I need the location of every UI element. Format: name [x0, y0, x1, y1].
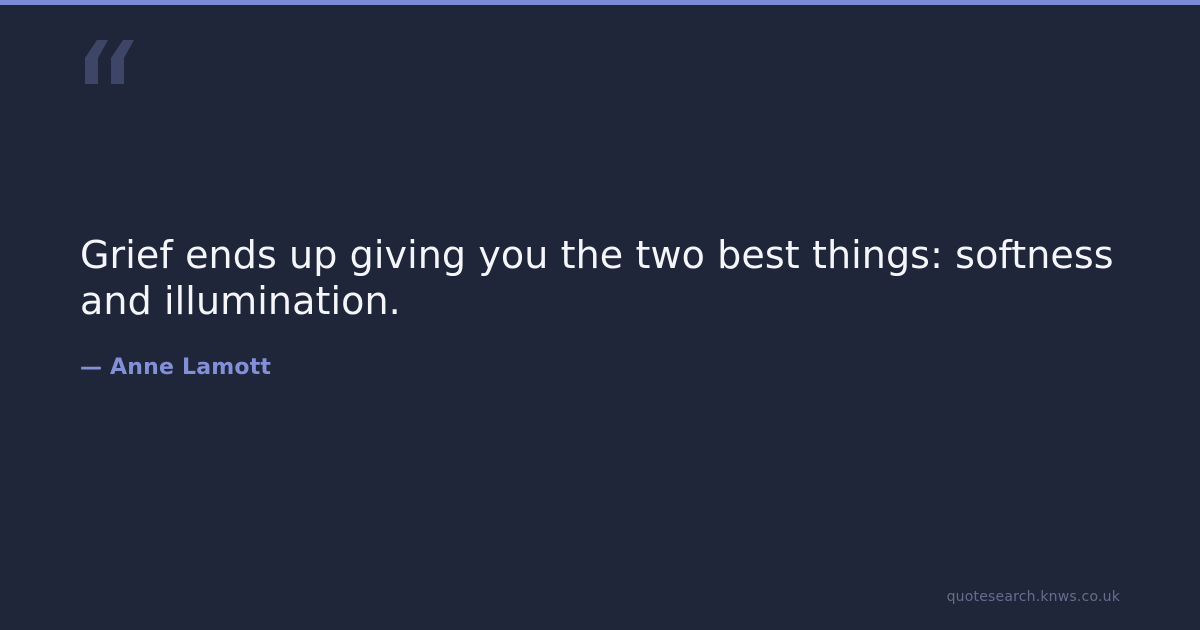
- opening-quote-mark-icon: [80, 40, 136, 84]
- site-watermark: quotesearch.knws.co.uk: [947, 588, 1120, 606]
- quote-text: Grief ends up giving you the two best th…: [80, 232, 1120, 324]
- quote-card: Grief ends up giving you the two best th…: [0, 0, 1200, 630]
- quote-block: Grief ends up giving you the two best th…: [80, 232, 1120, 382]
- top-accent-bar: [0, 0, 1200, 5]
- quote-author: — Anne Lamott: [80, 324, 1120, 382]
